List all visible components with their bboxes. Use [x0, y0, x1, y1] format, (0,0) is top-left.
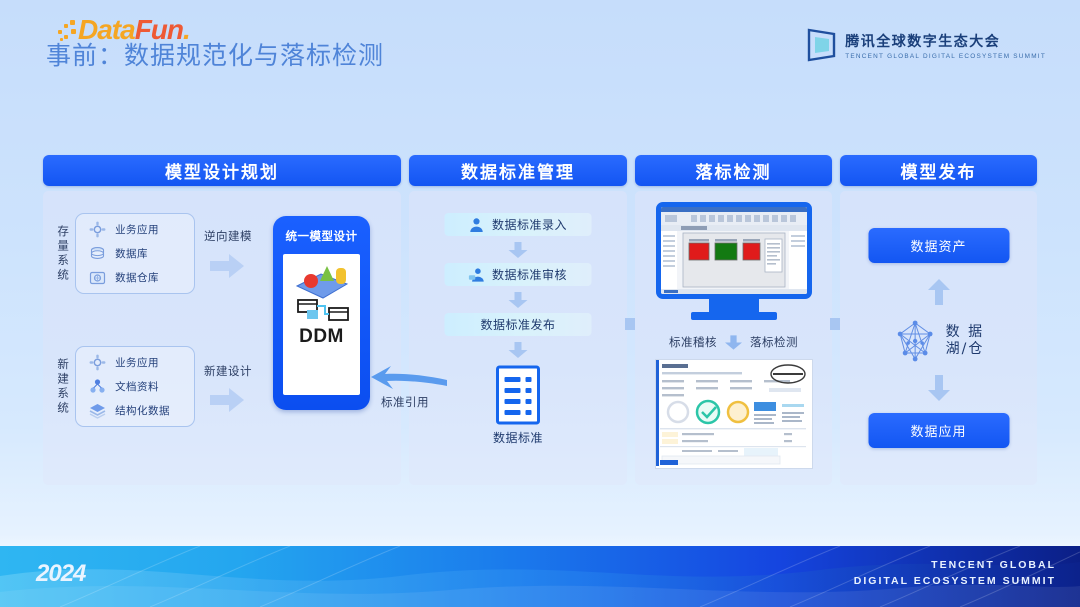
detection-captions: 标准稽核 落标检测 — [635, 334, 832, 350]
list-item-label: 数据仓库 — [115, 270, 159, 285]
caption-detection: 落标检测 — [750, 334, 798, 350]
review-person-icon — [469, 267, 485, 283]
footer-line-2: DIGITAL ECOSYSTEM SUMMIT — [854, 574, 1056, 590]
arrow-caption-new-design: 新建设计 — [204, 363, 252, 379]
list-item[interactable]: 文档资料 — [76, 378, 194, 395]
panel-model-publish: 模型发布 数据资产 — [840, 155, 1037, 485]
person-icon — [469, 217, 485, 233]
tencent-mark-icon — [807, 28, 836, 62]
step-standard-entry[interactable]: 数据标准录入 — [445, 213, 592, 236]
ddm-product-name: DDM — [299, 326, 344, 348]
group-label-new: 新建系统 — [57, 358, 69, 416]
panel-data-standard-mgmt: 数据标准管理 数据标准录入 数据标准审核 — [409, 155, 627, 485]
panel-body-4: 数据资产 — [840, 191, 1037, 485]
data-lake-group: 数 据 湖/仓 — [893, 319, 985, 363]
list-item[interactable]: 数据库 — [76, 245, 194, 262]
standard-doc-icon — [496, 365, 541, 425]
process-diagram: 模型设计规划 存量系统 业务应用 — [43, 155, 1038, 485]
arrow-standard-reference-icon — [371, 363, 447, 393]
data-lake-label-line1: 数 据 — [946, 324, 985, 342]
list-item[interactable]: 数据仓库 — [76, 269, 194, 286]
panel-model-design: 模型设计规划 存量系统 业务应用 — [43, 155, 401, 485]
step-label: 数据标准审核 — [492, 266, 567, 283]
arrow-reverse-modeling-icon — [210, 253, 244, 279]
data-lake-label-line2: 湖/仓 — [946, 341, 985, 359]
monitor-base — [691, 312, 777, 320]
box-data-asset[interactable]: 数据资产 — [868, 228, 1009, 263]
tencent-summit-logo: 腾讯全球数字生态大会 TENCENT GLOBAL DIGITAL ECOSYS… — [807, 28, 1046, 62]
panel-body-3: 标准稽核 落标检测 — [635, 191, 832, 485]
slide-footer: 2024 TENCENT GLOBAL DIGITAL ECOSYSTEM SU… — [0, 546, 1080, 607]
arrow-down-icon — [509, 242, 528, 258]
step-label: 数据标准录入 — [492, 216, 567, 233]
list-item-label: 数据库 — [115, 246, 148, 261]
list-item-label: 文档资料 — [115, 379, 159, 394]
panel-body-1: 存量系统 业务应用 数据库 — [43, 191, 401, 485]
data-lake-label: 数 据 湖/仓 — [946, 324, 985, 359]
arrow-down-icon — [725, 335, 742, 350]
box-data-application[interactable]: 数据应用 — [868, 413, 1009, 448]
panel-body-2: 数据标准录入 数据标准审核 数据标准发布 — [409, 191, 627, 485]
arrow-caption-reverse-modeling: 逆向建模 — [204, 228, 252, 244]
ddm-logo-area: DDM — [283, 254, 360, 395]
warehouse-folder-icon — [89, 269, 106, 286]
list-item[interactable]: 结构化数据 — [76, 402, 194, 419]
gear-icon — [89, 354, 106, 371]
panel-title-2: 数据标准管理 — [409, 155, 627, 186]
arrow-down-icon — [928, 375, 950, 401]
panel-title-3: 落标检测 — [635, 155, 832, 186]
step-standard-review[interactable]: 数据标准审核 — [445, 263, 592, 286]
panel-title-1: 模型设计规划 — [43, 155, 401, 186]
step-standard-publish[interactable]: 数据标准发布 — [445, 313, 592, 336]
arrow-caption-standard-reference: 标准引用 — [381, 394, 429, 410]
step-label: 数据标准发布 — [480, 316, 555, 333]
unified-model-design-card[interactable]: 统一模型设计 — [273, 216, 370, 410]
document-node-icon — [89, 378, 106, 395]
arrow-down-icon — [509, 292, 528, 308]
panel-title-4: 模型发布 — [840, 155, 1037, 186]
group-box-new: 业务应用 文档资料 结构化数据 — [75, 346, 195, 427]
page-title: 事前：数据规范化与落标检测 — [46, 36, 384, 72]
monitor-screenshot — [656, 202, 812, 299]
footer-summit-name: TENCENT GLOBAL DIGITAL ECOSYSTEM SUMMIT — [854, 558, 1056, 590]
list-item-label: 结构化数据 — [115, 403, 170, 418]
footer-year: 2024 — [36, 560, 85, 588]
gear-icon — [89, 221, 106, 238]
monitor-stand — [709, 299, 759, 312]
box-label: 数据应用 — [910, 421, 966, 440]
group-new-system: 新建系统 业务应用 文档资料 — [57, 346, 195, 427]
footer-line-1: TENCENT GLOBAL — [854, 558, 1056, 574]
list-item-label: 业务应用 — [115, 355, 159, 370]
box-label: 数据资产 — [910, 236, 966, 255]
arrow-down-icon — [509, 342, 528, 358]
detection-monitor — [656, 202, 812, 320]
data-lake-network-icon — [893, 319, 937, 363]
list-item[interactable]: 业务应用 — [76, 354, 194, 371]
database-icon — [89, 245, 106, 262]
group-box-legacy: 业务应用 数据库 数据仓库 — [75, 213, 195, 294]
caption-standard-audit: 标准稽核 — [669, 334, 717, 350]
arrow-up-icon — [928, 279, 950, 305]
group-legacy-system: 存量系统 业务应用 数据库 — [57, 213, 195, 294]
layers-icon — [89, 402, 106, 419]
list-item[interactable]: 业务应用 — [76, 221, 194, 238]
group-label-legacy: 存量系统 — [57, 225, 69, 283]
doc-caption: 数据标准 — [493, 429, 543, 446]
ddm-graphic-icon — [287, 260, 357, 322]
panel-detection: 落标检测 — [635, 155, 832, 485]
list-item-label: 业务应用 — [115, 222, 159, 237]
audit-report-screenshot — [655, 359, 813, 469]
tencent-logo-en: TENCENT GLOBAL DIGITAL ECOSYSTEM SUMMIT — [845, 53, 1046, 60]
arrow-new-design-icon — [210, 387, 244, 413]
tencent-logo-cn: 腾讯全球数字生态大会 — [845, 31, 1046, 51]
card-title: 统一模型设计 — [286, 228, 358, 244]
slide-canvas: DataFun. 事前：数据规范化与落标检测 腾讯全球数字生态大会 TENCEN… — [0, 0, 1080, 607]
